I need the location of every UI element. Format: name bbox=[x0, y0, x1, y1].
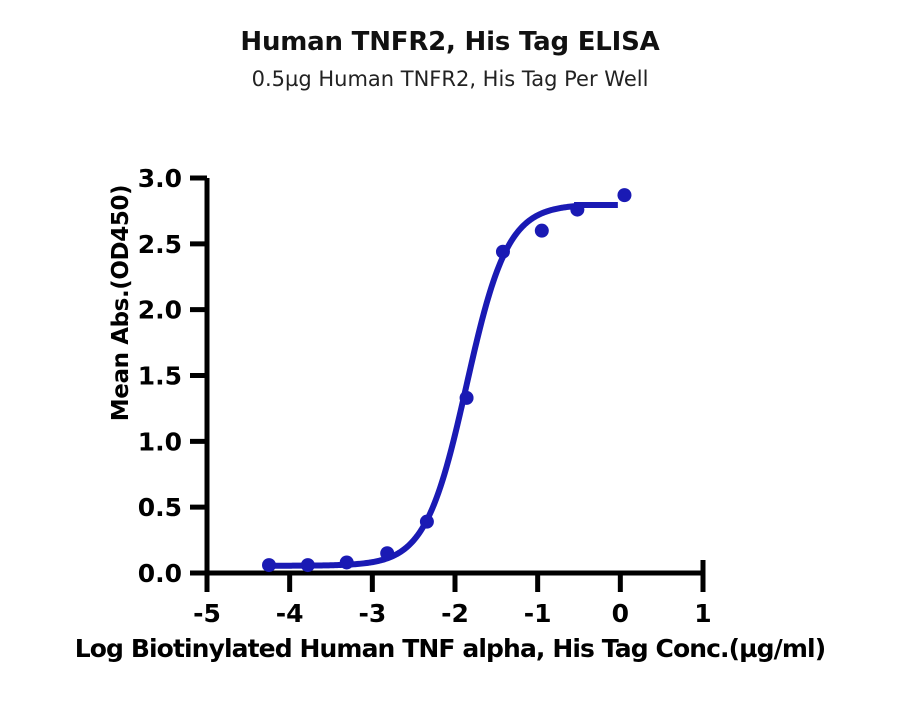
y-tick-group: 0.00.51.01.52.02.53.0 bbox=[138, 164, 207, 588]
chart-figure: Human TNFR2, His Tag ELISA 0.5µg Human T… bbox=[0, 0, 900, 702]
y-tick-label: 2.0 bbox=[138, 296, 182, 325]
x-tick-label: -2 bbox=[441, 599, 469, 628]
x-tick-label: -5 bbox=[193, 599, 221, 628]
data-point bbox=[340, 555, 354, 569]
y-tick-label: 1.5 bbox=[138, 362, 182, 391]
y-tick-label: 1.0 bbox=[138, 427, 182, 456]
fit-curve bbox=[269, 206, 575, 566]
data-point bbox=[380, 546, 394, 560]
x-tick-label: -3 bbox=[358, 599, 386, 628]
x-tick-label: -1 bbox=[524, 599, 552, 628]
plot-area: 0.00.51.01.52.02.53.0 -5-4-3-2-101 bbox=[0, 0, 900, 702]
x-tick-label: -4 bbox=[276, 599, 304, 628]
data-point bbox=[460, 391, 474, 405]
data-points-group bbox=[262, 188, 631, 572]
data-point bbox=[420, 515, 434, 529]
y-tick-label: 3.0 bbox=[138, 164, 182, 193]
x-tick-label: 0 bbox=[612, 599, 629, 628]
x-tick-group: -5-4-3-2-101 bbox=[193, 573, 712, 628]
axes bbox=[205, 178, 704, 573]
data-point bbox=[570, 203, 584, 217]
data-point bbox=[535, 224, 549, 238]
data-point bbox=[301, 558, 315, 572]
y-tick-label: 0.5 bbox=[138, 493, 182, 522]
fit-curve-group bbox=[269, 205, 618, 566]
y-tick-label: 0.0 bbox=[138, 559, 182, 588]
x-tick-label: 1 bbox=[694, 599, 711, 628]
y-tick-label: 2.5 bbox=[138, 230, 182, 259]
data-point bbox=[496, 245, 510, 259]
data-point bbox=[262, 558, 276, 572]
data-point bbox=[617, 188, 631, 202]
